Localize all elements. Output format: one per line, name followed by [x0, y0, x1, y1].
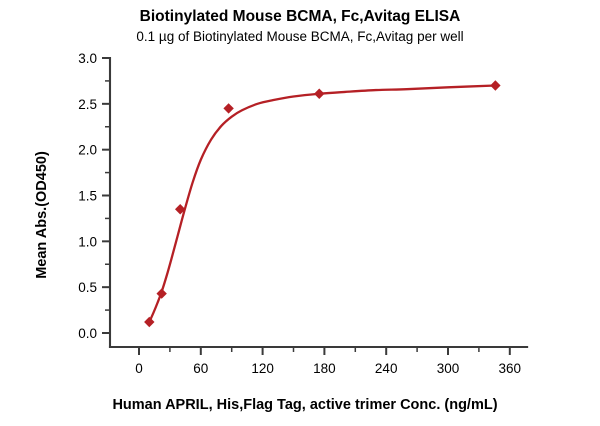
chart-title: Biotinylated Mouse BCMA, Fc,Avitag ELISA [140, 8, 461, 25]
x-tick-label: 120 [251, 361, 274, 376]
x-tick-label: 0 [135, 361, 143, 376]
x-tick-label: 180 [313, 361, 336, 376]
y-axis-label: Mean Abs.(OD450) [34, 151, 50, 279]
x-tick-label: 300 [437, 361, 460, 376]
y-tick-label: 1.5 [78, 189, 97, 204]
elisa-chart: Biotinylated Mouse BCMA, Fc,Avitag ELISA… [0, 0, 600, 421]
x-axis-label: Human APRIL, His,Flag Tag, active trimer… [112, 397, 497, 413]
y-tick-label: 3.0 [78, 51, 97, 66]
chart-svg: Biotinylated Mouse BCMA, Fc,Avitag ELISA… [0, 0, 600, 421]
x-tick-label: 60 [193, 361, 208, 376]
chart-subtitle: 0.1 µg of Biotinylated Mouse BCMA, Fc,Av… [136, 29, 463, 44]
y-tick-label: 2.0 [78, 143, 97, 158]
y-tick-label: 2.5 [78, 97, 97, 112]
y-tick-label: 1.0 [78, 234, 97, 249]
y-tick-label: 0.0 [78, 326, 97, 341]
x-tick-label: 240 [375, 361, 398, 376]
y-tick-label: 0.5 [78, 280, 97, 295]
x-tick-label: 360 [499, 361, 522, 376]
